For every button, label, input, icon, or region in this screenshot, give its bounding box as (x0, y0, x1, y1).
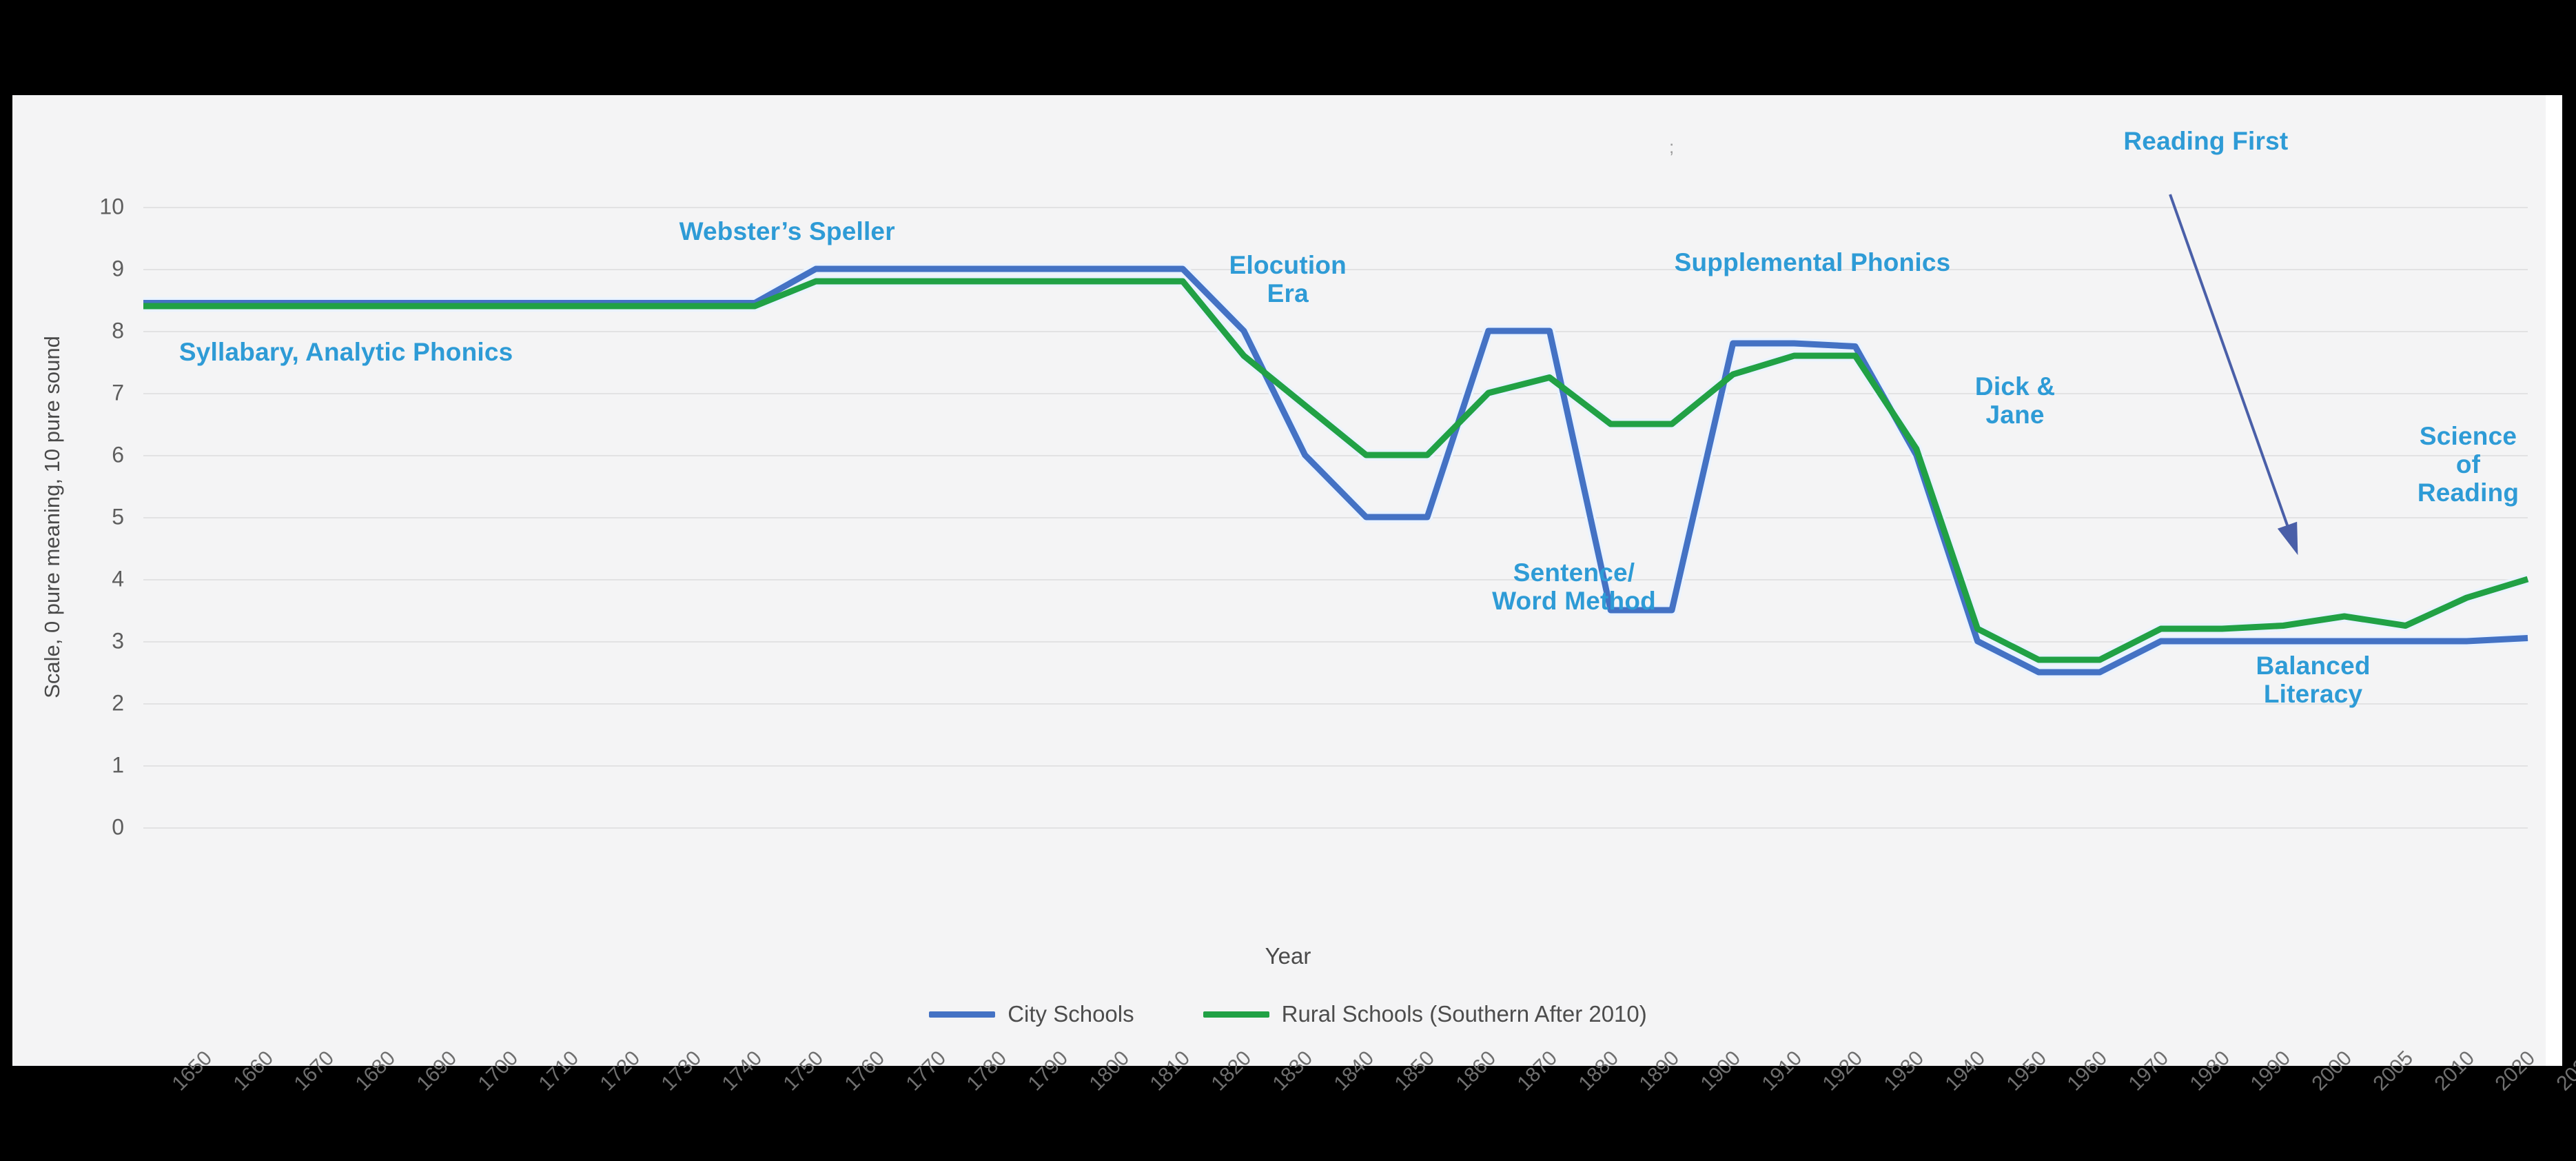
y-tick-label: 1 (83, 753, 124, 778)
legend-swatch-icon (1203, 1011, 1269, 1018)
y-tick-label: 6 (83, 443, 124, 468)
y-tick-label: 9 (83, 256, 124, 282)
y-tick-label: 5 (83, 505, 124, 530)
chart-annotation: Reading First (2123, 127, 2288, 155)
screenshot-frame: Scale, 0 pure meaning, 10 pure sound Yea… (0, 0, 2576, 1161)
y-tick-label: 0 (83, 815, 124, 840)
y-tick-label: 7 (83, 381, 124, 406)
stray-mark: ; (1669, 137, 1674, 158)
chart-legend: City SchoolsRural Schools (Southern Afte… (0, 1001, 2576, 1027)
y-tick-label: 2 (83, 691, 124, 716)
arrow-head (2278, 522, 2298, 555)
y-tick-label: 8 (83, 319, 124, 344)
arrow-shaft (2170, 194, 2296, 552)
y-axis-title: Scale, 0 pure meaning, 10 pure sound (39, 207, 66, 827)
legend-item[interactable]: City Schools (929, 1001, 1134, 1027)
legend-label: Rural Schools (Southern After 2010) (1282, 1001, 1647, 1027)
y-tick-label: 3 (83, 629, 124, 654)
legend-swatch-icon (929, 1011, 995, 1018)
y-tick-label: 4 (83, 567, 124, 592)
y-tick-label: 10 (83, 194, 124, 220)
legend-label: City Schools (1008, 1001, 1134, 1027)
legend-item[interactable]: Rural Schools (Southern After 2010) (1203, 1001, 1647, 1027)
reading-first-arrow (143, 207, 2528, 965)
